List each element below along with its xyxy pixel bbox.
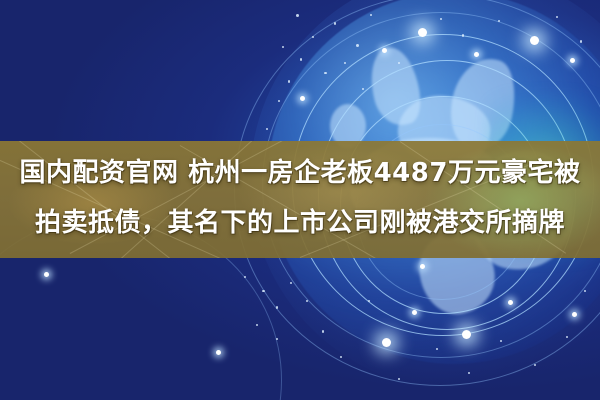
- star-particle: [566, 336, 568, 338]
- star-particle: [282, 46, 284, 48]
- star-particle: [436, 348, 438, 350]
- star-particle: [276, 338, 278, 340]
- star-particle: [584, 290, 586, 292]
- star-particle: [580, 40, 582, 43]
- star-particle: [296, 14, 299, 17]
- star-particle: [256, 324, 258, 326]
- star-particle: [370, 14, 372, 16]
- headline-line-2: 拍卖抵债，其名下的上市公司刚被港交所摘牌: [0, 198, 600, 248]
- star-particle: [262, 290, 265, 292]
- star-particle: [290, 282, 292, 284]
- star-particle: [312, 36, 314, 38]
- star-particle: [324, 72, 327, 74]
- star-particle: [300, 58, 302, 61]
- star-particle: [340, 356, 342, 358]
- network-node: [300, 96, 305, 101]
- star-particle: [398, 378, 400, 380]
- network-node: [216, 350, 221, 355]
- star-particle: [334, 22, 336, 25]
- star-particle: [468, 372, 470, 374]
- star-particle: [278, 100, 280, 102]
- star-particle: [306, 300, 308, 302]
- network-node: [420, 264, 425, 269]
- star-particle: [462, 34, 464, 37]
- network-node: [570, 58, 575, 63]
- network-node: [382, 48, 387, 53]
- star-particle: [534, 364, 536, 366]
- star-particle: [498, 20, 500, 22]
- network-node: [412, 310, 417, 315]
- star-particle: [244, 276, 246, 278]
- star-particle: [356, 44, 359, 47]
- star-particle: [266, 128, 268, 130]
- headline-text: 国内配资官网 杭州一房企老板4487万元豪宅被 拍卖抵债，其名下的上市公司刚被港…: [0, 148, 600, 248]
- network-node: [44, 272, 49, 277]
- star-particle: [322, 330, 324, 333]
- star-particle: [398, 62, 400, 64]
- network-node: [508, 300, 513, 305]
- star-particle: [556, 16, 558, 18]
- star-particle: [368, 300, 370, 302]
- network-node: [382, 338, 391, 347]
- network-node: [572, 312, 577, 317]
- star-particle: [344, 62, 346, 64]
- network-node: [418, 28, 427, 37]
- star-particle: [362, 88, 364, 90]
- network-node: [474, 52, 479, 57]
- star-particle: [440, 18, 442, 20]
- star-particle: [276, 306, 278, 309]
- headline-line-1: 国内配资官网 杭州一房企老板4487万元豪宅被: [0, 148, 600, 198]
- network-node: [530, 36, 539, 45]
- network-node: [462, 330, 471, 339]
- star-particle: [288, 80, 290, 83]
- star-particle: [500, 340, 502, 342]
- news-banner-image: 国内配资官网 杭州一房企老板4487万元豪宅被 拍卖抵债，其名下的上市公司刚被港…: [0, 0, 600, 400]
